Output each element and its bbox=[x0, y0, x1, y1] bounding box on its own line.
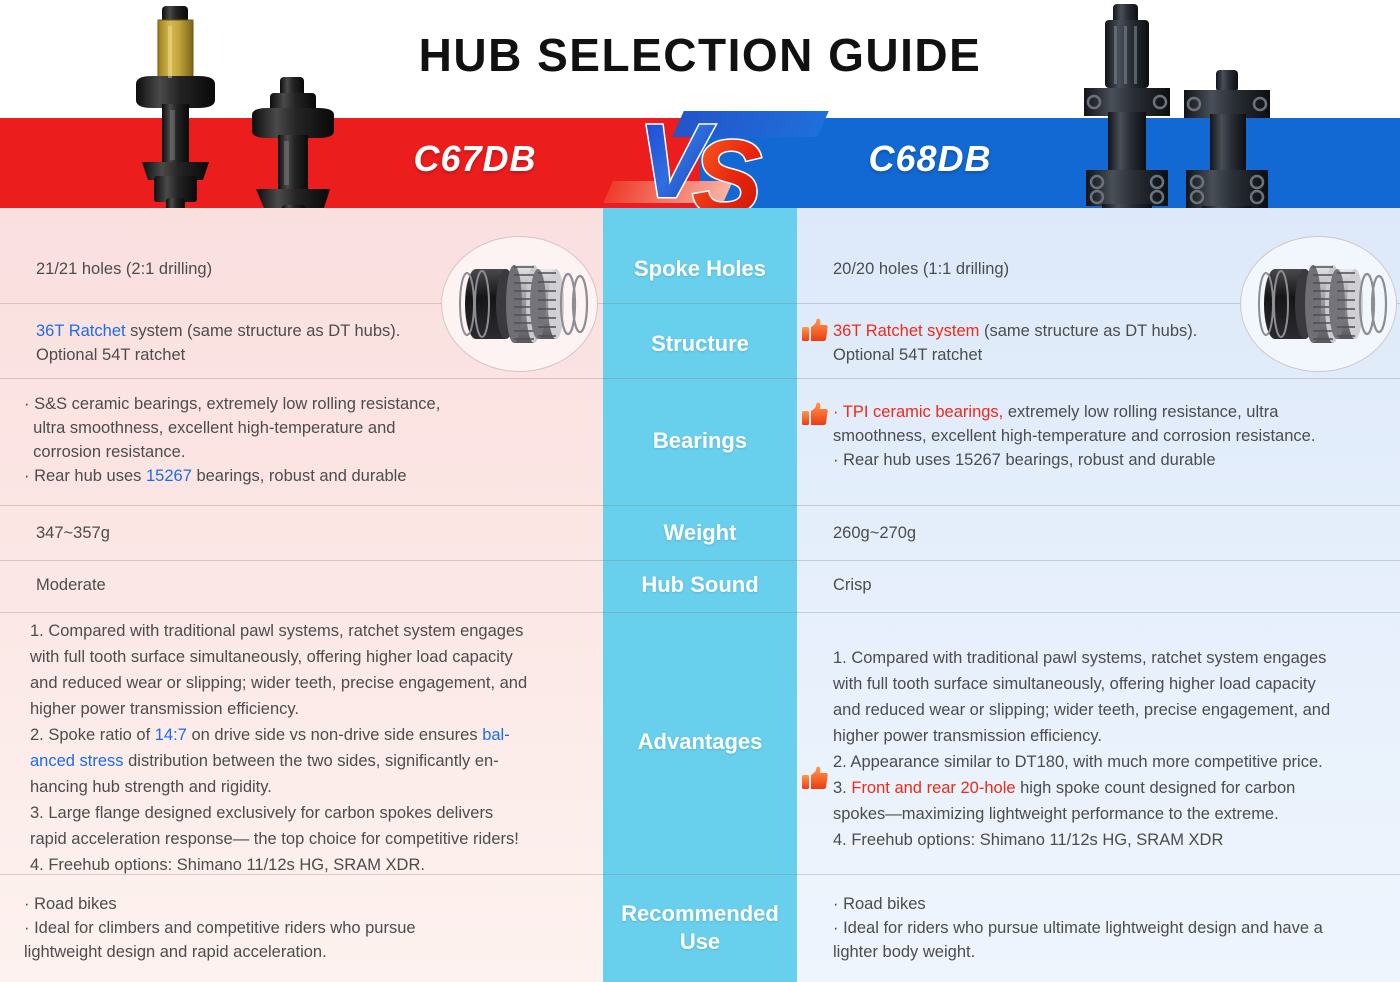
text-line: ultra smoothness, excellent high-tempera… bbox=[24, 416, 584, 440]
text-line: Moderate bbox=[36, 573, 456, 597]
text-span: · Rear hub uses 15267 bearings, robust a… bbox=[833, 451, 1216, 469]
text-line: 1. Compared with traditional pawl system… bbox=[30, 618, 595, 644]
text-line: 1. Compared with traditional pawl system… bbox=[833, 645, 1393, 671]
thumbs-up-icon bbox=[802, 766, 828, 790]
cell-right-advantages: 1. Compared with traditional pawl system… bbox=[833, 645, 1393, 853]
text-line: · Road bikes bbox=[24, 892, 584, 916]
text-line: Crisp bbox=[833, 573, 1233, 597]
text-line: Optional 54T ratchet bbox=[833, 343, 1243, 367]
text-span: distribution between the two sides, sign… bbox=[124, 752, 499, 770]
text-line: and reduced wear or slipping; wider teet… bbox=[833, 697, 1393, 723]
text-line: 36T Ratchet system (same structure as DT… bbox=[833, 319, 1243, 343]
text-span: · Ideal for riders who pursue ultimate l… bbox=[833, 919, 1323, 937]
text-span: rapid acceleration response— the top cho… bbox=[30, 830, 519, 848]
text-span: 4. Freehub options: Shimano 11/12s HG, S… bbox=[833, 831, 1223, 849]
text-span: higher power transmission efficiency. bbox=[833, 727, 1102, 745]
text-line: lightweight design and rapid acceleratio… bbox=[24, 940, 584, 964]
text-line: Optional 54T ratchet bbox=[36, 343, 456, 367]
text-line: 2. Spoke ratio of 14:7 on drive side vs … bbox=[30, 722, 595, 748]
cell-left-recommended-use: · Road bikes· Ideal for climbers and com… bbox=[24, 892, 584, 964]
cell-right-weight: 260g~270g bbox=[833, 521, 1233, 545]
thumbs-up-icon bbox=[802, 402, 828, 426]
text-span: 3. Large flange designed exclusively for… bbox=[30, 804, 493, 822]
text-span: and reduced wear or slipping; wider teet… bbox=[833, 701, 1330, 719]
text-span: spokes—maximizing lightweight performanc… bbox=[833, 805, 1279, 823]
text-line: · Rear hub uses 15267 bearings, robust a… bbox=[833, 448, 1393, 472]
infographic-root: HUB SELECTION GUIDE bbox=[0, 0, 1400, 982]
row-label-recommended-use: Recommended Use bbox=[610, 900, 790, 956]
text-span: · Rear hub uses bbox=[24, 467, 146, 485]
highlight-span: · TPI ceramic bearings, bbox=[833, 403, 1003, 421]
cell-right-bearings: · TPI ceramic bearings, extremely low ro… bbox=[833, 400, 1393, 472]
text-span: with full tooth surface simultaneously, … bbox=[30, 648, 513, 666]
text-span: · Road bikes bbox=[24, 895, 117, 913]
row-label-advantages: Advantages bbox=[603, 728, 797, 756]
text-span: Optional 54T ratchet bbox=[36, 346, 185, 364]
highlight-span: bal- bbox=[482, 726, 510, 744]
text-line: spokes—maximizing lightweight performanc… bbox=[833, 801, 1393, 827]
text-line: higher power transmission efficiency. bbox=[30, 696, 595, 722]
text-span: 2. Spoke ratio of bbox=[30, 726, 155, 744]
text-span: 1. Compared with traditional pawl system… bbox=[30, 622, 523, 640]
text-line: 36T Ratchet system (same structure as DT… bbox=[36, 319, 456, 343]
text-span: higher power transmission efficiency. bbox=[30, 700, 299, 718]
text-line: and reduced wear or slipping; wider teet… bbox=[30, 670, 595, 696]
left-ratchet-inset-image bbox=[441, 236, 598, 372]
text-line: · S&S ceramic bearings, extremely low ro… bbox=[24, 392, 584, 416]
right-model-name: C68DB bbox=[800, 138, 1060, 180]
text-span: · Ideal for climbers and competitive rid… bbox=[24, 919, 416, 937]
right-ratchet-inset-image bbox=[1240, 236, 1397, 372]
text-span: 3. bbox=[833, 779, 851, 797]
text-line: · Ideal for climbers and competitive rid… bbox=[24, 916, 584, 940]
text-line: with full tooth surface simultaneously, … bbox=[833, 671, 1393, 697]
text-line: anced stress distribution between the tw… bbox=[30, 748, 595, 774]
row-label-weight: Weight bbox=[603, 519, 797, 547]
row-label-hub-sound: Hub Sound bbox=[603, 571, 797, 599]
left-hub-rear-image bbox=[118, 4, 233, 239]
row-divider bbox=[0, 505, 1400, 506]
text-span: corrosion resistance. bbox=[24, 443, 185, 461]
text-span: on drive side vs non-drive side ensures bbox=[187, 726, 482, 744]
text-line: · Road bikes bbox=[833, 892, 1393, 916]
text-line: 20/20 holes (1:1 drilling) bbox=[833, 257, 1233, 281]
text-span: · S&S ceramic bearings, extremely low ro… bbox=[24, 395, 440, 413]
text-line: rapid acceleration response— the top cho… bbox=[30, 826, 595, 852]
text-span: smoothness, excellent high-temperature a… bbox=[833, 427, 1315, 445]
text-span: (same structure as DT hubs). bbox=[979, 322, 1197, 340]
vs-badge: V S bbox=[630, 95, 790, 225]
text-line: 4. Freehub options: Shimano 11/12s HG, S… bbox=[30, 852, 595, 878]
row-divider bbox=[0, 612, 1400, 613]
text-line: higher power transmission efficiency. bbox=[833, 723, 1393, 749]
text-line: 4. Freehub options: Shimano 11/12s HG, S… bbox=[833, 827, 1393, 853]
highlight-span: 36T Ratchet bbox=[36, 322, 126, 340]
cell-left-advantages: 1. Compared with traditional pawl system… bbox=[30, 618, 595, 878]
text-line: lighter body weight. bbox=[833, 940, 1393, 964]
text-line: 347~357g bbox=[36, 521, 456, 545]
highlight-span: anced stress bbox=[30, 752, 124, 770]
text-span: · Road bikes bbox=[833, 895, 926, 913]
text-span: system (same structure as DT hubs). bbox=[126, 322, 401, 340]
highlight-span: 15267 bbox=[146, 467, 192, 485]
text-line: with full tooth surface simultaneously, … bbox=[30, 644, 595, 670]
text-span: extremely low rolling resistance, ultra bbox=[1003, 403, 1278, 421]
highlight-span: Front and rear 20-hole bbox=[851, 779, 1015, 797]
text-span: lightweight design and rapid acceleratio… bbox=[24, 943, 327, 961]
text-span: 1. Compared with traditional pawl system… bbox=[833, 649, 1326, 667]
text-line: hancing hub strength and rigidity. bbox=[30, 774, 595, 800]
text-span: hancing hub strength and rigidity. bbox=[30, 778, 272, 796]
cell-right-structure: 36T Ratchet system (same structure as DT… bbox=[833, 319, 1243, 367]
text-line: · TPI ceramic bearings, extremely low ro… bbox=[833, 400, 1393, 424]
text-line: · Ideal for riders who pursue ultimate l… bbox=[833, 916, 1393, 940]
cell-left-hub-sound: Moderate bbox=[36, 573, 456, 597]
text-span: 4. Freehub options: Shimano 11/12s HG, S… bbox=[30, 856, 425, 874]
text-line: 260g~270g bbox=[833, 521, 1233, 545]
row-divider bbox=[0, 303, 1400, 304]
highlight-span: 14:7 bbox=[155, 726, 187, 744]
highlight-span: 36T Ratchet system bbox=[833, 322, 979, 340]
text-line: 21/21 holes (2:1 drilling) bbox=[36, 257, 456, 281]
text-span: ultra smoothness, excellent high-tempera… bbox=[24, 419, 395, 437]
row-label-bearings: Bearings bbox=[603, 427, 797, 455]
text-line: · Rear hub uses 15267 bearings, robust a… bbox=[24, 464, 584, 488]
text-span: and reduced wear or slipping; wider teet… bbox=[30, 674, 527, 692]
text-line: 3. Large flange designed exclusively for… bbox=[30, 800, 595, 826]
thumbs-up-icon bbox=[802, 318, 828, 342]
text-span: lighter body weight. bbox=[833, 943, 975, 961]
row-label-structure: Structure bbox=[603, 330, 797, 358]
left-model-name: C67DB bbox=[350, 138, 600, 180]
cell-right-hub-sound: Crisp bbox=[833, 573, 1233, 597]
row-divider bbox=[0, 378, 1400, 379]
cell-left-structure: 36T Ratchet system (same structure as DT… bbox=[36, 319, 456, 367]
text-line: 2. Appearance similar to DT180, with muc… bbox=[833, 749, 1393, 775]
row-divider bbox=[0, 560, 1400, 561]
text-line: corrosion resistance. bbox=[24, 440, 584, 464]
text-span: bearings, robust and durable bbox=[192, 467, 407, 485]
cell-left-spoke-holes: 21/21 holes (2:1 drilling) bbox=[36, 257, 456, 281]
cell-left-bearings: · S&S ceramic bearings, extremely low ro… bbox=[24, 392, 584, 488]
text-line: smoothness, excellent high-temperature a… bbox=[833, 424, 1393, 448]
text-span: high spoke count designed for carbon bbox=[1016, 779, 1296, 797]
text-span: 2. Appearance similar to DT180, with muc… bbox=[833, 753, 1323, 771]
text-line: 3. Front and rear 20-hole high spoke cou… bbox=[833, 775, 1393, 801]
text-span: with full tooth surface simultaneously, … bbox=[833, 675, 1316, 693]
cell-right-recommended-use: · Road bikes· Ideal for riders who pursu… bbox=[833, 892, 1393, 964]
text-span: Optional 54T ratchet bbox=[833, 346, 982, 364]
cell-left-weight: 347~357g bbox=[36, 521, 456, 545]
row-label-spoke-holes: Spoke Holes bbox=[603, 255, 797, 283]
cell-right-spoke-holes: 20/20 holes (1:1 drilling) bbox=[833, 257, 1233, 281]
